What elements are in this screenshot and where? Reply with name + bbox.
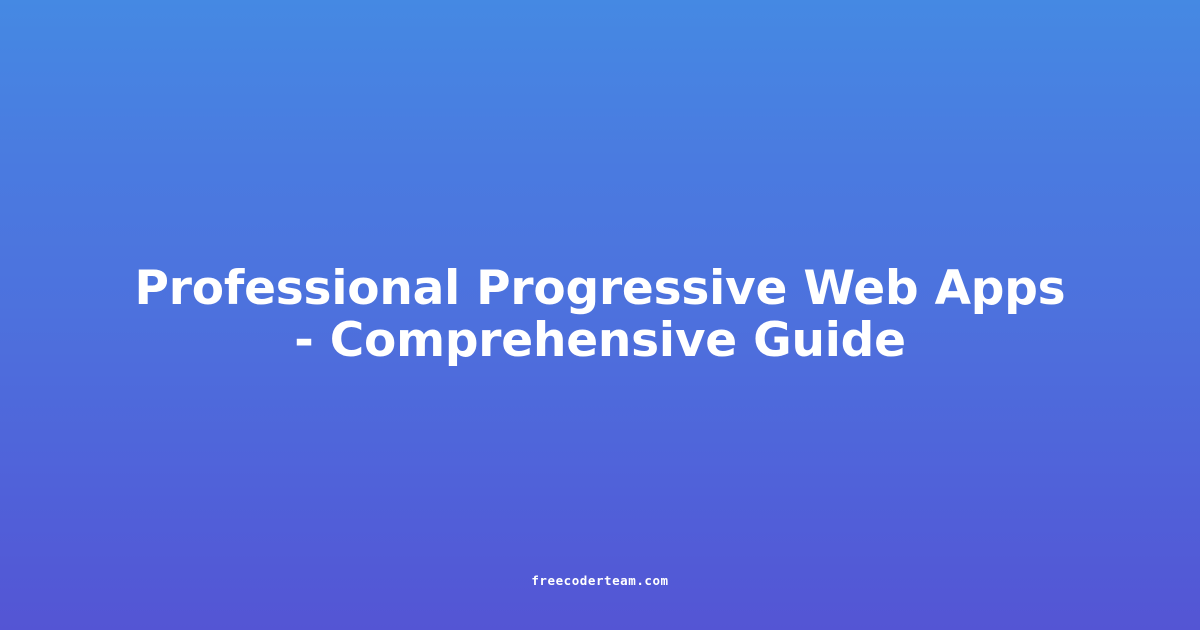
title-block: Professional Progressive Web Apps - Comp… xyxy=(100,263,1100,367)
card-footer: freecoderteam.com xyxy=(0,570,1200,589)
social-share-card: Professional Progressive Web Apps - Comp… xyxy=(0,0,1200,630)
site-domain-label: freecoderteam.com xyxy=(531,575,668,588)
page-title: Professional Progressive Web Apps - Comp… xyxy=(120,263,1080,367)
